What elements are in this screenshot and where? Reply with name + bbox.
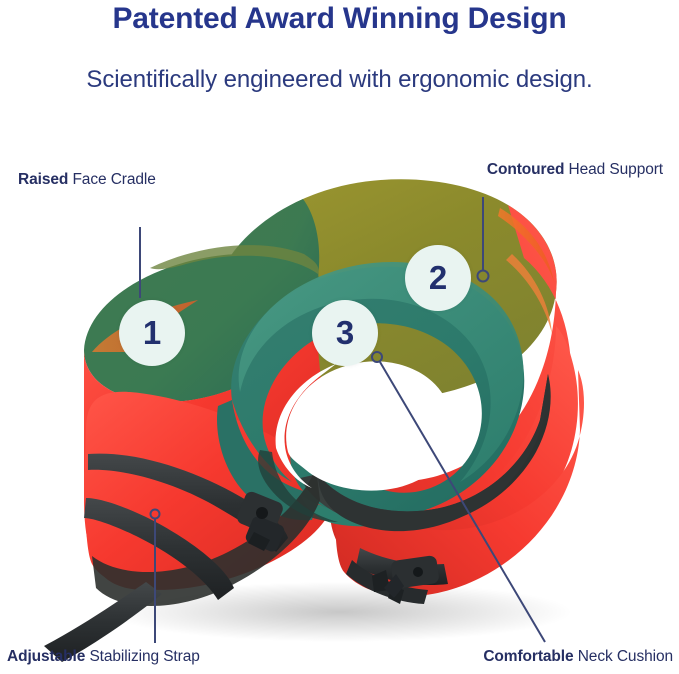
callout-adjustable-stabilizing-strap-bold: Adjustable (7, 648, 85, 665)
callout-comfortable-neck-cushion: Comfortable Neck Cushion (483, 648, 673, 666)
callout-contoured-head-support: Contoured Head Support (487, 161, 663, 179)
badge-three: 3 (312, 300, 378, 366)
callout-adjustable-stabilizing-strap-regular: Stabilizing Strap (85, 648, 200, 665)
callout-raised-face-cradle-bold: Raised (18, 171, 68, 188)
callout-adjustable-stabilizing-strap: Adjustable Stabilizing Strap (7, 648, 200, 666)
callout-contoured-head-support-bold: Contoured (487, 161, 564, 178)
badge-two: 2 (405, 245, 471, 311)
callout-raised-face-cradle: Raised Face Cradle (18, 171, 156, 189)
callout-comfortable-neck-cushion-bold: Comfortable (483, 648, 573, 665)
callout-comfortable-neck-cushion-regular: Neck Cushion (574, 648, 674, 665)
callout-contoured-head-support-regular: Head Support (564, 161, 663, 178)
callout-raised-face-cradle-regular: Face Cradle (68, 171, 156, 188)
product-feature-infographic: Patented Award Winning Design Scientific… (0, 0, 679, 674)
badge-one: 1 (119, 300, 185, 366)
